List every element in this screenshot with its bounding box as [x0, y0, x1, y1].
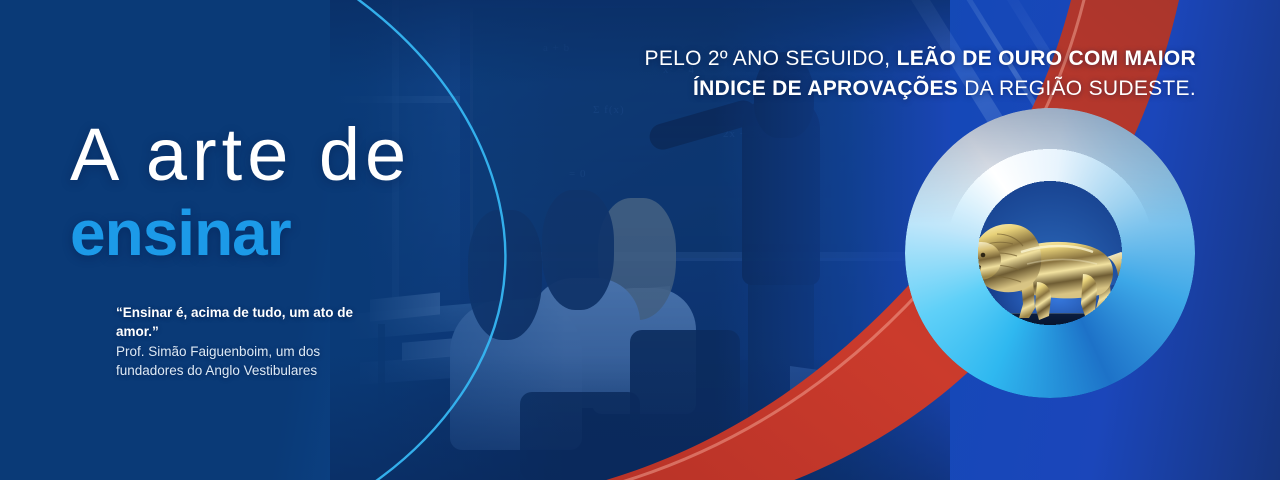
top-message-line2-bold: ÍNDICE DE APROVAÇÕES: [693, 77, 958, 100]
page-title: A arte de ensinar: [70, 118, 411, 267]
top-message-line1-bold: LEÃO DE OURO COM MAIOR: [897, 47, 1196, 70]
top-message-line1-regular: PELO 2º ANO SEGUIDO,: [645, 47, 897, 70]
headline-line2: ensinar: [70, 200, 411, 267]
quote-attribution: Prof. Simão Faiguenboim, um dos fundador…: [116, 342, 366, 380]
headline-line1: A arte de: [70, 118, 411, 192]
top-message-line2-regular: DA REGIÃO SUDESTE.: [958, 77, 1196, 100]
top-message-line1: PELO 2º ANO SEGUIDO, LEÃO DE OURO COM MA…: [645, 44, 1196, 74]
quote-text: “Ensinar é, acima de tudo, um ato de amo…: [116, 303, 366, 341]
top-message-line2: ÍNDICE DE APROVAÇÕES DA REGIÃO SUDESTE.: [645, 74, 1196, 104]
lion-trophy-emblem: AÇÃO ANGLO: [905, 108, 1195, 398]
quote-block: “Ensinar é, acima de tudo, um ato de amo…: [116, 303, 366, 381]
top-message: PELO 2º ANO SEGUIDO, LEÃO DE OURO COM MA…: [645, 44, 1196, 105]
emblem-ring: [905, 108, 1195, 398]
promo-banner: a + b x² − 4 Σ f(x) 2x + 3y = 0: [0, 0, 1280, 480]
